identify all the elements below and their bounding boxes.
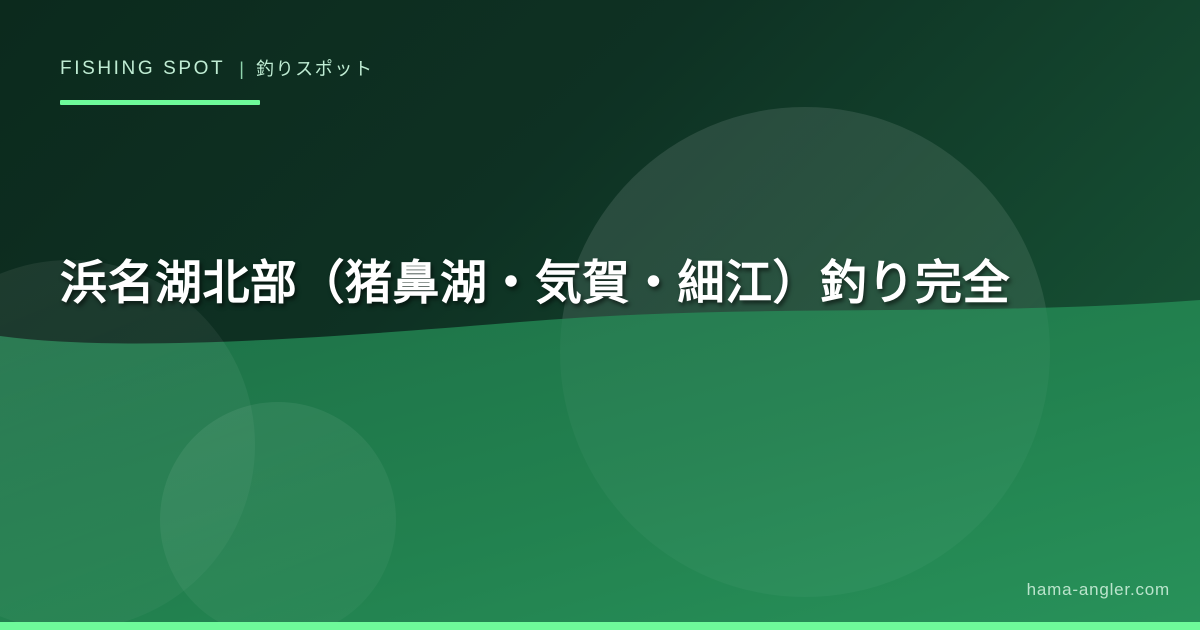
eyebrow-separator: | [239,56,244,82]
eyebrow: FISHING SPOT | 釣りスポット [60,56,1140,82]
card-content: FISHING SPOT | 釣りスポット 浜名湖北部（猪鼻湖・気賀・細江）釣り… [0,0,1200,630]
accent-rule [60,100,260,105]
eyebrow-label-en: FISHING SPOT [60,56,225,82]
eyebrow-label-ja: 釣りスポット [256,56,374,82]
share-card-canvas: FISHING SPOT | 釣りスポット 浜名湖北部（猪鼻湖・気賀・細江）釣り… [0,0,1200,630]
site-domain-watermark: hama-angler.com [1027,580,1170,600]
bottom-accent-bar [0,622,1200,630]
page-title: 浜名湖北部（猪鼻湖・気賀・細江）釣り完全 [60,252,1140,314]
